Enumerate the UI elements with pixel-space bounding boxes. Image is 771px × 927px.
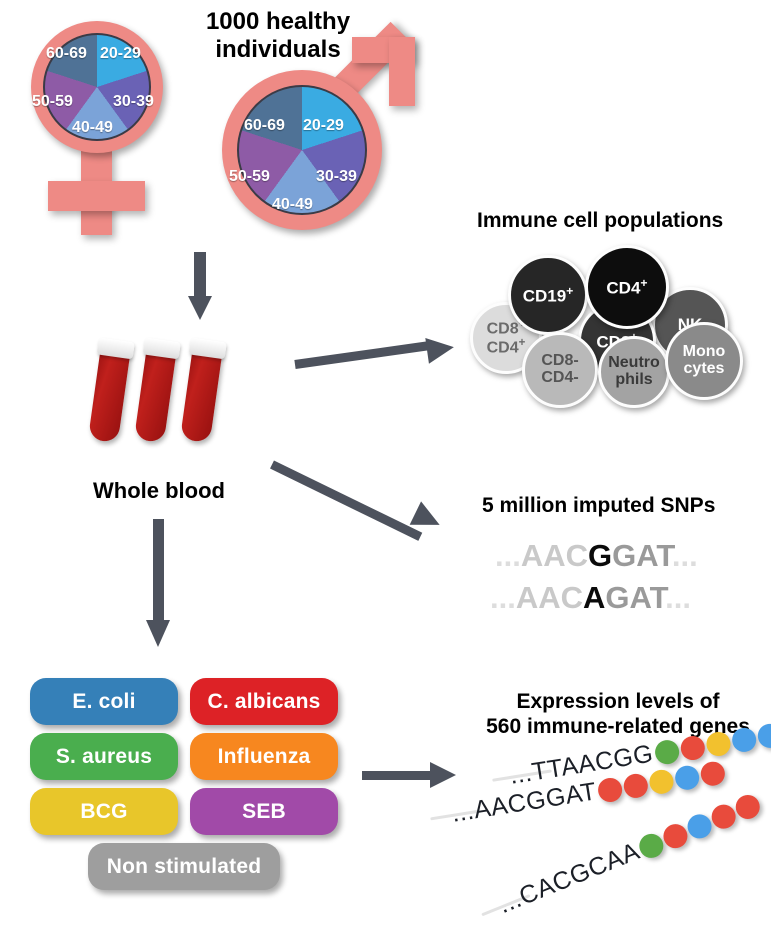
stimulus-influenza[interactable]: Influenza xyxy=(190,733,338,780)
dna-base-dot xyxy=(674,764,701,791)
blood-tube xyxy=(88,338,132,443)
dna-base-dot xyxy=(597,776,624,803)
dna-base-dot xyxy=(622,772,649,799)
blood-tube-body xyxy=(134,350,176,443)
female-slice-label-40-49: 40-49 xyxy=(72,119,113,137)
immune-cell-cd19pos: CD19+ xyxy=(508,255,588,335)
blood-tube-body xyxy=(180,350,222,443)
snp-allele-row-2: ...AACAGAT... xyxy=(490,580,691,616)
snp-ellipsis-left: ... xyxy=(495,538,521,573)
snp-suffix: GAT xyxy=(612,538,672,573)
arrow-shaft xyxy=(270,460,422,540)
arrow-shaft xyxy=(294,341,434,369)
arrow-shaft xyxy=(153,519,164,625)
female-slice-label-60-69: 60-69 xyxy=(46,45,87,63)
immune-section-heading: Immune cell populations xyxy=(477,209,723,233)
dna-base-dot xyxy=(648,768,675,795)
dna-base-dot xyxy=(756,722,771,749)
dna-strand-group: ...TTAACGG ...AACGGAT ...CACGCAA xyxy=(440,740,771,920)
whole-blood-label: Whole blood xyxy=(93,478,225,503)
immune-cell-label: Monocytes xyxy=(683,344,726,377)
female-symbol-stem-cross xyxy=(48,181,145,211)
snp-suffix: GAT xyxy=(605,580,665,615)
dna-base-dot xyxy=(705,730,732,757)
male-slice-label-20-29: 20-29 xyxy=(303,117,344,135)
dna-base-dot xyxy=(653,738,680,765)
male-slice-label-50-59: 50-59 xyxy=(229,168,270,186)
snp-ellipsis-right: ... xyxy=(672,538,698,573)
arrow-head xyxy=(188,296,212,320)
expression-heading-line-1: Expression levels of xyxy=(483,690,753,714)
snp-ellipsis-left: ... xyxy=(490,580,516,615)
female-slice-label-30-39: 30-39 xyxy=(113,93,154,111)
immune-cell-label: CD4+ xyxy=(606,277,647,297)
blood-tube xyxy=(134,338,178,443)
arrow-shaft xyxy=(194,252,206,300)
blood-tube xyxy=(180,338,224,443)
stimuli-panel: E. coli C. albicans S. aureus Influenza … xyxy=(30,678,350,908)
stimulus-e-coli[interactable]: E. coli xyxy=(30,678,178,725)
dna-base-dot xyxy=(730,726,757,753)
study-design-figure: 1000 healthyindividuals 60-69 20-29 30-3… xyxy=(0,0,771,922)
immune-cell-cd8neg-cd4neg: CD8-CD4- xyxy=(522,332,598,408)
snp-section-heading: 5 million imputed SNPs xyxy=(482,494,715,518)
dna-base-dot xyxy=(732,791,763,822)
arrow-blood-to-immune xyxy=(295,336,460,378)
immune-cell-cd4pos: CD4+ xyxy=(585,245,669,329)
snp-ellipsis-right: ... xyxy=(665,580,691,615)
immune-cell-label: CD8-CD4- xyxy=(541,353,578,386)
stimulus-s-aureus[interactable]: S. aureus xyxy=(30,733,178,780)
immune-cell-label: CD8+CD4+ xyxy=(487,319,526,357)
snp-prefix: AAC xyxy=(521,538,588,573)
arrow-cohort-to-blood xyxy=(186,252,216,320)
dna-base-dot xyxy=(699,759,726,786)
dna-base-dot xyxy=(679,734,706,761)
arrow-blood-to-stimuli xyxy=(143,519,175,651)
snp-variant-base: G xyxy=(588,538,612,573)
snp-prefix: AAC xyxy=(516,580,583,615)
arrow-head xyxy=(146,620,170,647)
female-cohort-group: 60-69 20-29 30-39 40-49 50-59 xyxy=(0,0,200,250)
dna-sequence-text: ...CACGCAA xyxy=(495,837,644,920)
arrow-blood-to-snps xyxy=(272,450,462,550)
snp-variant-base: A xyxy=(583,580,605,615)
immune-cell-neutrophils: Neutrophils xyxy=(598,336,670,408)
immune-cell-label: CD19+ xyxy=(523,285,574,305)
female-slice-label-50-59: 50-59 xyxy=(32,93,73,111)
male-slice-label-60-69: 60-69 xyxy=(244,117,285,135)
whole-blood-group xyxy=(100,338,280,488)
male-slice-label-40-49: 40-49 xyxy=(272,196,313,214)
stimulus-bcg[interactable]: BCG xyxy=(30,788,178,835)
blood-tube-body xyxy=(88,350,130,443)
male-slice-label-30-39: 30-39 xyxy=(316,168,357,186)
immune-cell-label: Neutrophils xyxy=(608,355,660,388)
immune-cell-monocytes: Monocytes xyxy=(665,322,743,400)
immune-cell-cluster: CD8+CD4+ CD19+ CD4+ NK CD8+ CD8-CD4- Neu… xyxy=(460,240,760,415)
stimulus-c-albicans[interactable]: C. albicans xyxy=(190,678,338,725)
snp-allele-row-1: ...AACGGAT... xyxy=(495,538,698,574)
male-symbol-arrowhead-side xyxy=(389,37,415,106)
stimulus-non-stimulated[interactable]: Non stimulated xyxy=(88,843,280,890)
female-slice-label-20-29: 20-29 xyxy=(100,45,141,63)
stimulus-seb[interactable]: SEB xyxy=(190,788,338,835)
male-cohort-group: 60-69 20-29 30-39 40-49 50-59 xyxy=(200,20,430,250)
arrow-shaft xyxy=(362,771,432,780)
arrow-head xyxy=(425,334,455,364)
